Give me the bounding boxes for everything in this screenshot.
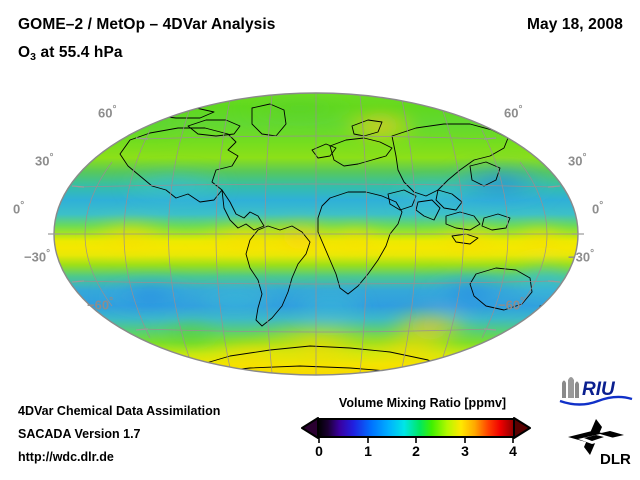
lat-label-right-0: 0° [592,200,603,216]
dlr-mark-icon [568,419,624,455]
attribution-block: 4DVar Chemical Data Assimilation SACADA … [18,400,220,469]
attribution-line-1: 4DVar Chemical Data Assimilation [18,400,220,423]
colorbar-tick-2: 2 [412,443,420,459]
colorbar-under-arrow [302,418,318,438]
attribution-line-2: SACADA Version 1.7 [18,423,220,446]
colorbar-tick-4: 4 [509,443,517,459]
attribution-url: http://wdc.dlr.de [18,446,220,469]
colorbar-gradient [300,417,532,443]
figure-canvas: GOME–2 / MetOp – 4DVar Analysis May 18, … [0,0,640,480]
colorbar-tick-3: 3 [461,443,469,459]
species-level-label: O3 at 55.4 hPa [18,44,123,62]
lat-label-left-60s: −60° [87,296,113,312]
colorbar: Volume Mixing Ratio [ppmv] [300,396,545,474]
colorbar-title: Volume Mixing Ratio [ppmv] [300,396,545,410]
species-subscript: 3 [30,51,36,63]
lat-label-right-60n: 60° [504,104,522,120]
lat-label-right-30n: 30° [568,152,586,168]
lat-label-left-60n: 60° [98,104,116,120]
dlr-wordmark: DLR [600,451,631,468]
colorbar-tick-0: 0 [315,443,323,459]
riu-logo: RIU [558,374,634,408]
lat-label-right-30s: −30° [568,248,594,264]
lat-label-right-60s: −60° [498,296,524,312]
mollweide-map [0,78,640,388]
riu-towers-icon [562,377,579,398]
dlr-logo: DLR [566,417,634,469]
pressure-level: at 55.4 hPa [36,44,123,61]
lat-label-left-30n: 30° [35,152,53,168]
species-symbol: O [18,44,30,61]
colorbar-tick-1: 1 [364,443,372,459]
figure-title: GOME–2 / MetOp – 4DVar Analysis [18,16,276,34]
lat-label-left-30s: −30° [24,248,50,264]
figure-date: May 18, 2008 [527,16,623,34]
colorbar-over-arrow [514,418,530,438]
world-map-panel: 60° 30° 0° −30° −60° 60° 30° 0° −30° −60… [0,78,640,388]
lat-label-left-0: 0° [13,200,24,216]
